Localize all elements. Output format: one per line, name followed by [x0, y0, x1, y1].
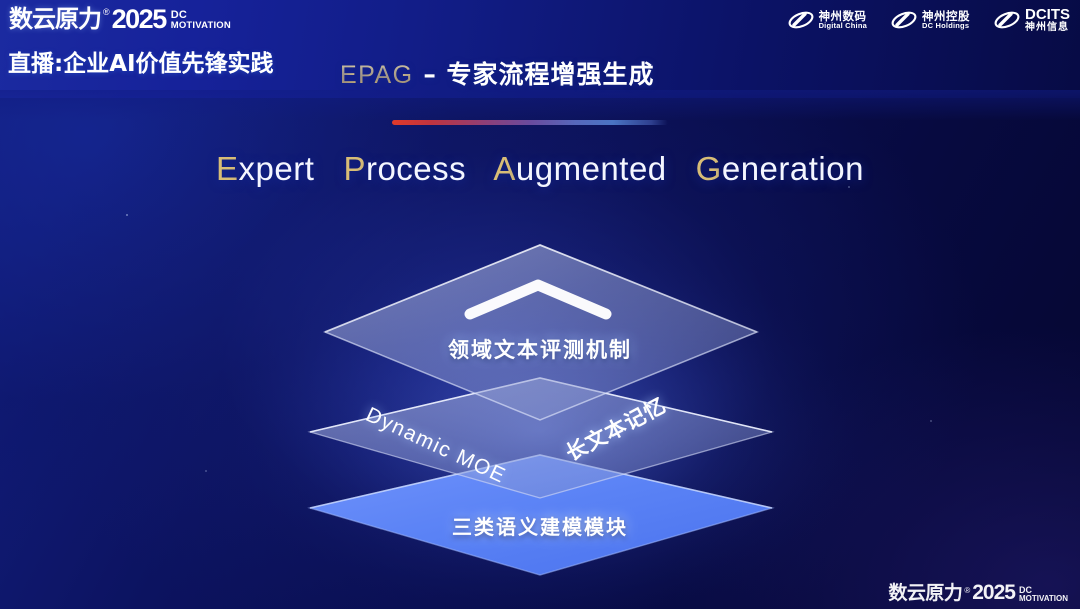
ambient-speck — [126, 214, 128, 216]
slide-canvas: 数云原力 ® 2025 DC MOTIVATION 直播:企业AI价值先锋实践 … — [0, 0, 1080, 609]
ambient-speck — [930, 420, 932, 422]
logo-dc-holdings: 神州控股 DC Holdings — [891, 9, 970, 31]
brand-name-cn: 数云原力 — [9, 7, 101, 31]
subtitle-cap-p: P — [343, 150, 366, 187]
partner-logos: 神州数码 Digital China 神州控股 DC Holdings — [788, 7, 1070, 33]
layer-middle — [310, 378, 772, 498]
logo-digital-china: 神州数码 Digital China — [788, 9, 867, 31]
brand-dc-motivation: DC MOTIVATION — [171, 10, 231, 31]
page-title: EPAG – 专家流程增强生成 — [340, 55, 655, 91]
watermark-registered-mark: ® — [964, 586, 970, 595]
top-banner: 数云原力 ® 2025 DC MOTIVATION 直播:企业AI价值先锋实践 … — [0, 0, 1080, 98]
logo-dcits-cn: 神州信息 — [1025, 23, 1070, 34]
logo-dcits-latin: DCITS — [1025, 7, 1070, 23]
page-title-rest: – 专家流程增强生成 — [414, 60, 655, 89]
accent-divider — [392, 120, 668, 125]
subtitle-word-generation: Generation — [696, 150, 864, 187]
logo-dc-holdings-text: 神州控股 DC Holdings — [922, 10, 970, 30]
subtitle-space — [676, 150, 686, 187]
logo-dcits: DCITS 神州信息 — [994, 7, 1070, 33]
live-stream-title: 直播:企业AI价值先锋实践 — [8, 44, 274, 78]
subtitle-rest-generation: eneration — [722, 150, 864, 187]
subtitle-expert-process-augmented-generation: Expert Process Augmented Generation — [0, 150, 1080, 188]
watermark-name-cn: 数云原力 — [888, 584, 962, 603]
swoosh-icon — [891, 9, 917, 31]
layer-label-dynamic-moe: Dynamic MOE — [362, 403, 510, 489]
subtitle-word-augmented: Augmented — [493, 150, 666, 187]
brand-lockup: 数云原力 ® 2025 DC MOTIVATION — [9, 5, 231, 33]
subtitle-rest-augmented: ugmented — [516, 150, 667, 187]
subtitle-cap-e: E — [216, 150, 239, 187]
subtitle-rest-process: rocess — [366, 150, 466, 187]
watermark-dc-line2: MOTIVATION — [1019, 595, 1068, 603]
watermark-year: 2025 — [972, 582, 1015, 603]
brand-dc-line2: MOTIVATION — [171, 21, 231, 31]
subtitle-cap-a: A — [493, 150, 516, 187]
layer-label-top: 领域文本评测机制 — [0, 334, 1080, 364]
layer-label-bottom: 三类语义建模模块 — [0, 511, 1080, 540]
subtitle-cap-g: G — [696, 150, 722, 187]
footer-watermark: 数云原力 ® 2025 DC MOTIVATION — [888, 582, 1068, 603]
logo-dc-holdings-en: DC Holdings — [922, 22, 970, 30]
subtitle-word-process: Process — [343, 150, 466, 187]
brand-year: 2025 — [112, 6, 166, 33]
subtitle-space — [324, 150, 334, 187]
brand-registered-mark: ® — [103, 7, 110, 17]
ambient-speck — [205, 470, 207, 472]
logo-digital-china-en: Digital China — [819, 22, 867, 30]
layer-top — [325, 245, 757, 420]
layer-label-long-text-memory: 长文本记忆 — [560, 389, 671, 467]
logo-dcits-text: DCITS 神州信息 — [1025, 7, 1070, 33]
logo-digital-china-text: 神州数码 Digital China — [819, 10, 867, 30]
subtitle-word-expert: Expert — [216, 150, 314, 187]
watermark-dc-motivation: DC MOTIVATION — [1019, 586, 1068, 603]
subtitle-space — [476, 150, 486, 187]
swoosh-icon — [994, 9, 1020, 31]
subtitle-rest-expert: xpert — [239, 150, 315, 187]
page-title-acronym: EPAG — [340, 61, 414, 89]
swoosh-icon — [788, 9, 814, 31]
chevron-up-icon — [470, 285, 606, 314]
